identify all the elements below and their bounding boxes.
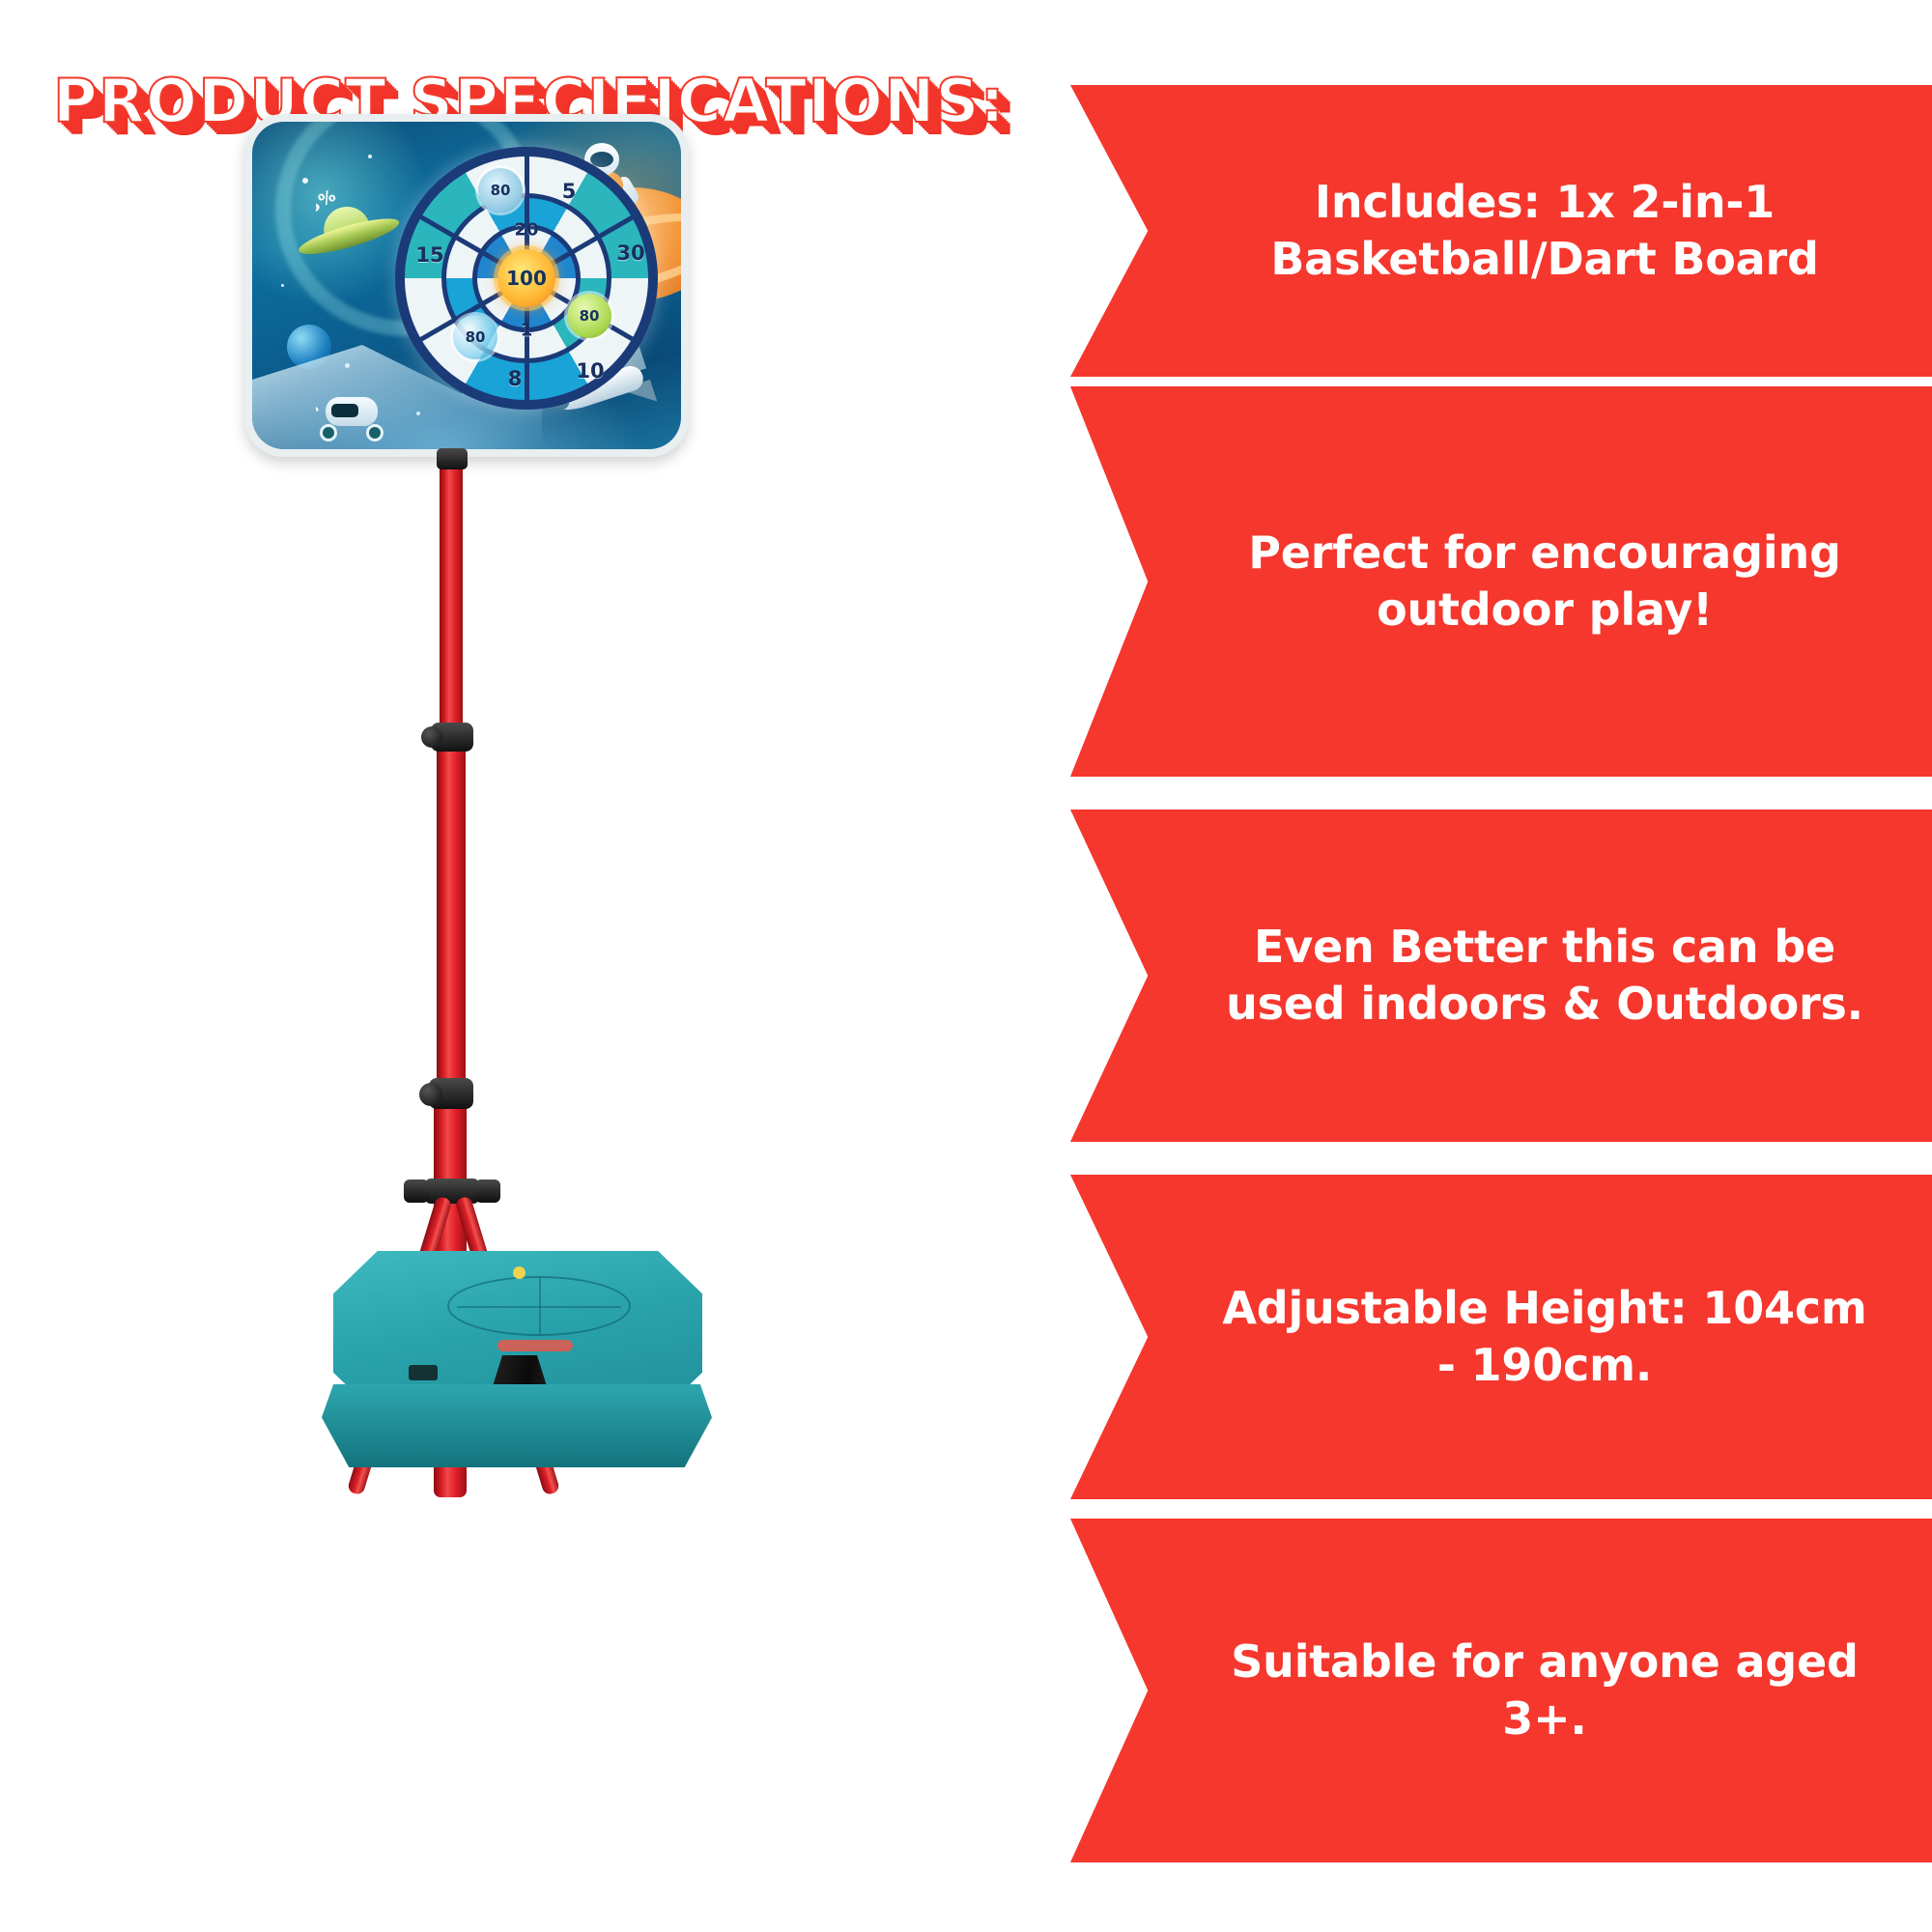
spec-banner-outdoor-play[interactable]: Perfect for encouraging outdoor play! (1070, 386, 1932, 777)
score-label: 30 (616, 241, 644, 265)
backboard-mount-knob (437, 448, 468, 469)
base-left-notch (409, 1365, 438, 1380)
dartboard-target: 5 30 10 8 15 20 1 80 80 80 100 (395, 147, 658, 410)
bullseye-score: 100 (506, 267, 547, 290)
spec-banner-text: Perfect for encouraging outdoor play! (1215, 525, 1874, 639)
rover-icon (316, 397, 387, 441)
bonus-target-planet: 80 (567, 294, 611, 338)
score-label: 5 (562, 180, 577, 203)
spec-banner-indoor-outdoor[interactable]: Even Better this can be used indoors & O… (1070, 810, 1932, 1142)
score-label: 1 (521, 321, 533, 341)
score-label: 15 (415, 243, 443, 267)
spec-banner-age-suitability[interactable]: Suitable for anyone aged 3+. (1070, 1519, 1932, 1862)
star-icon (281, 284, 284, 287)
spec-banner-adjustable-height[interactable]: Adjustable Height: 104cm - 190cm. (1070, 1175, 1932, 1499)
bonus-target-ufo: 80 (478, 168, 523, 213)
bonus-target-bubble: 80 (453, 315, 497, 359)
score-label: 10 (576, 359, 604, 383)
base-embossed-oval (447, 1276, 631, 1336)
board-artwork: SPACE EXPLORATION 68% 5 30 10 8 15 (252, 122, 681, 449)
score-label: 20 (514, 220, 538, 241)
base-front-face (322, 1384, 712, 1467)
product-image: SPACE EXPLORATION 68% 5 30 10 8 15 (0, 97, 1053, 1932)
base-yellow-dot (513, 1266, 526, 1279)
backboard-frame: SPACE EXPLORATION 68% 5 30 10 8 15 (244, 114, 689, 457)
star-icon (302, 178, 308, 184)
specifications-list: Includes: 1x 2-in-1 Basketball/Dart Boar… (1070, 0, 1932, 1932)
star-icon (368, 155, 372, 158)
pole-upper-section (440, 456, 463, 746)
spec-banner-text: Includes: 1x 2-in-1 Basketball/Dart Boar… (1215, 174, 1874, 288)
spec-banner-includes[interactable]: Includes: 1x 2-in-1 Basketball/Dart Boar… (1070, 85, 1932, 377)
height-adjust-knob-upper (431, 723, 473, 752)
spec-banner-text: Adjustable Height: 104cm - 190cm. (1215, 1280, 1874, 1394)
base-red-accent (497, 1340, 573, 1351)
height-adjust-knob-lower (429, 1078, 473, 1109)
pole-middle-section (437, 734, 466, 1101)
score-label: 8 (508, 367, 523, 390)
spec-banner-text: Suitable for anyone aged 3+. (1215, 1634, 1874, 1747)
bullseye: 100 (497, 249, 555, 307)
spec-banner-text: Even Better this can be used indoors & O… (1215, 919, 1874, 1033)
weighted-base (314, 1251, 720, 1502)
